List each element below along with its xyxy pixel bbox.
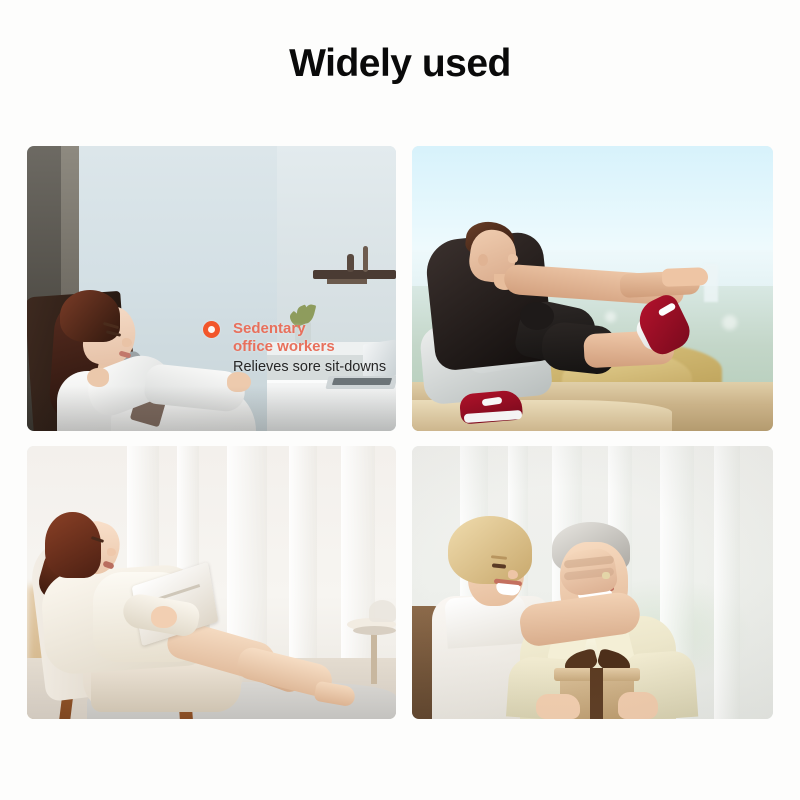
- use-case-card-after-housework[interactable]: After doing housework gently stick Relie…: [27, 446, 396, 719]
- orange-ring-bullet-icon: [203, 321, 220, 338]
- photo-woman-reading-in-armchair: [27, 446, 396, 719]
- shelf-vase-b: [363, 246, 368, 272]
- caption-heading-line-2: office workers: [233, 338, 335, 355]
- curtain-fold: [289, 446, 317, 661]
- wall-shelf-shadow: [327, 279, 367, 284]
- laptop-keyboard: [332, 378, 392, 385]
- woman-nose: [122, 338, 132, 347]
- photo-vignette: [412, 446, 773, 719]
- woman-hair: [45, 512, 101, 578]
- man-knee: [520, 302, 554, 330]
- photo-man-stretching-outdoors: [412, 146, 773, 431]
- use-case-card-sedentary-office-workers[interactable]: Sedentary office workers Relieves sore s…: [27, 146, 396, 431]
- caption-subtext: Relieves sore sit-downs: [203, 358, 386, 377]
- woman-hand-on-neck: [87, 368, 109, 387]
- page-title: Widely used: [0, 42, 800, 86]
- use-case-card-honor-elders[interactable]: Honor elders and send friends Relaxes me…: [412, 446, 773, 719]
- caption-block: Sedentary office workers Relieves sore s…: [203, 320, 386, 377]
- caption-heading: Sedentary office workers: [203, 320, 386, 355]
- use-case-card-fitness-crowds[interactable]: Fitness crowds 15 minutes of instant rel…: [412, 146, 773, 431]
- woman-hand-holding-book: [151, 606, 177, 628]
- table-lamp: [369, 600, 396, 622]
- photo-office-worker-stretching: [27, 146, 396, 431]
- dirt-highlight: [412, 400, 672, 431]
- curtain-fold: [227, 446, 267, 661]
- panel-bottom-shadow: [27, 386, 396, 431]
- side-table-leg: [371, 634, 377, 684]
- shelf-vase-a: [347, 254, 354, 272]
- man-ear: [478, 254, 488, 266]
- side-table-edge: [353, 626, 396, 635]
- woman-nose: [107, 548, 116, 556]
- man-hands-reaching: [662, 267, 709, 287]
- wall-shelf: [313, 270, 396, 279]
- distant-tower: [704, 264, 718, 302]
- photo-elderly-couple-with-gift: [412, 446, 773, 719]
- man-nose: [508, 254, 518, 263]
- caption-heading-line-1: Sedentary: [233, 320, 306, 337]
